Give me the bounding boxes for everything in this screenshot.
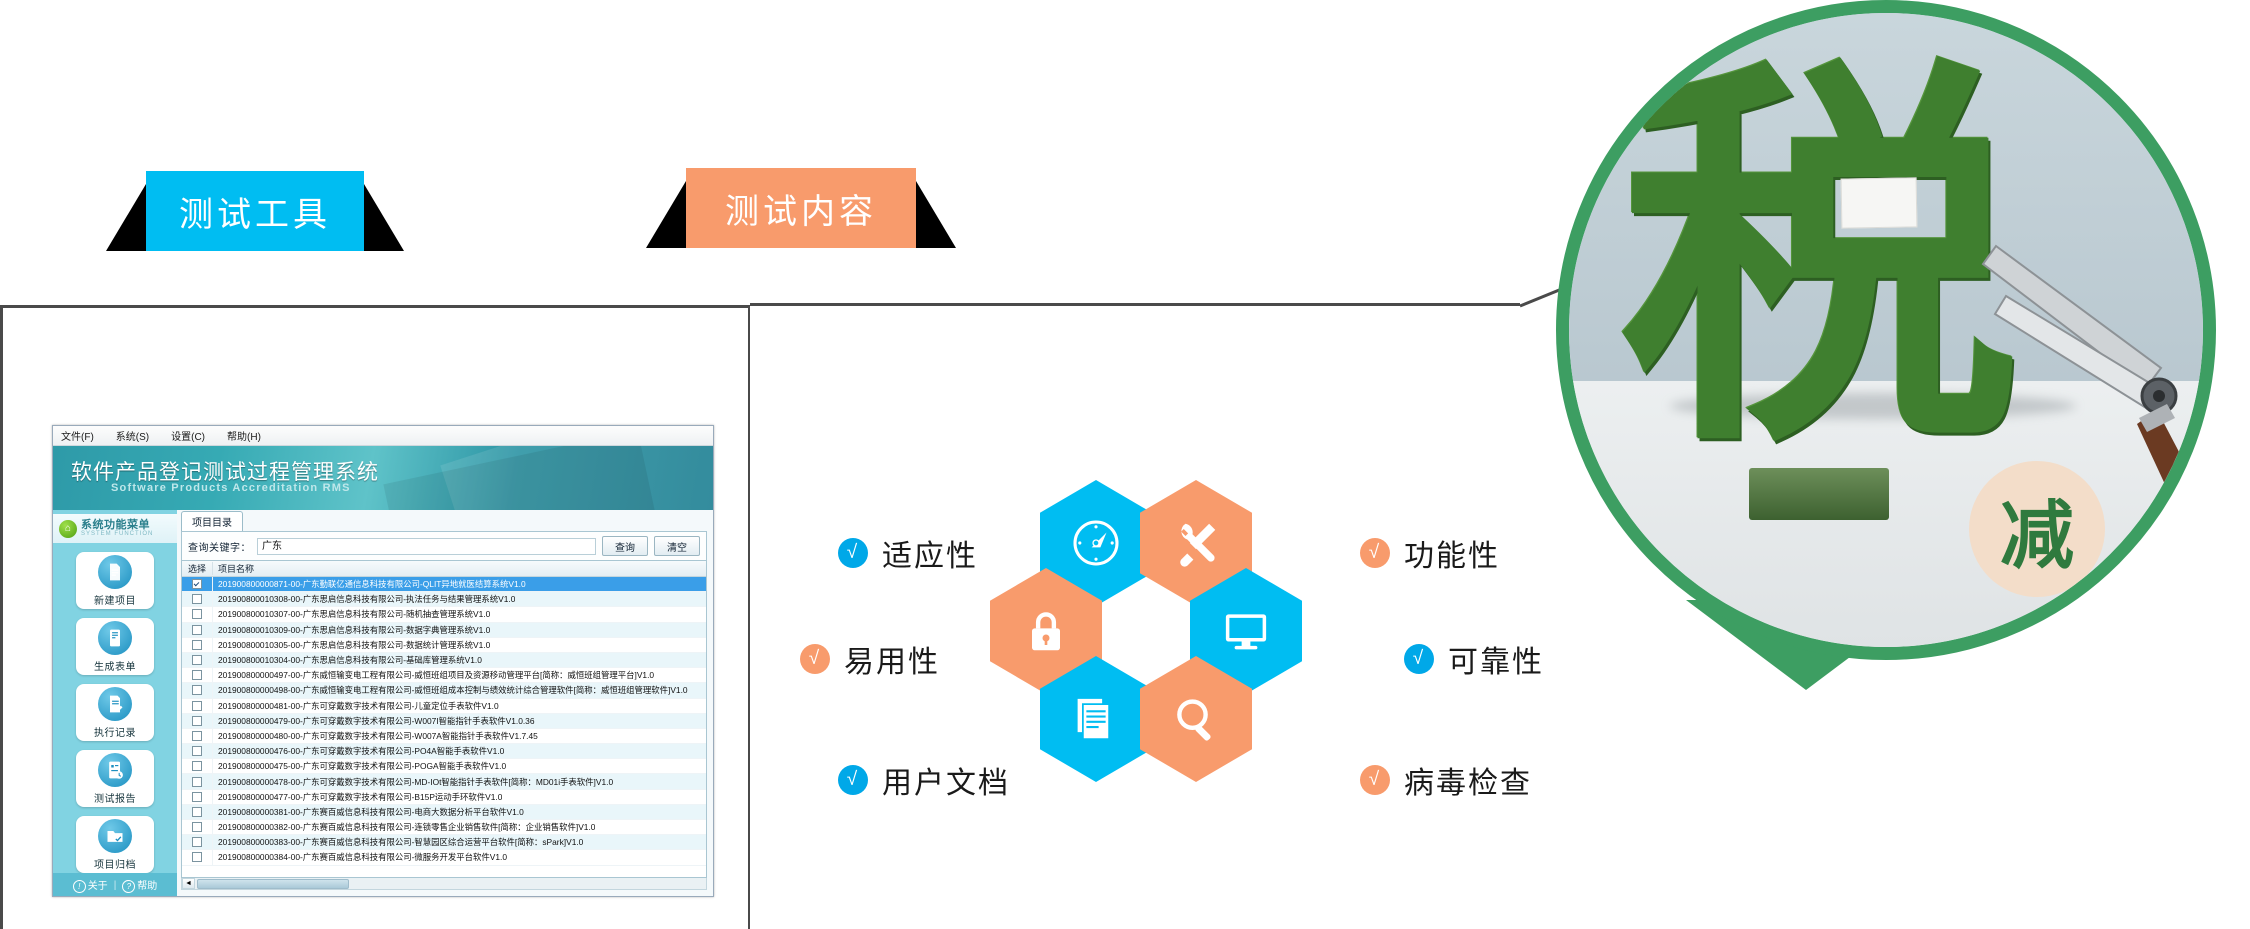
table-row[interactable]: 201900800000381-00-广东赛百威信息科技有限公司-电商大数据分析…	[182, 805, 706, 820]
row-checkbox[interactable]	[192, 822, 202, 832]
query-button[interactable]: 查询	[602, 536, 648, 556]
table-body: 201900800000871-00-广东勤联亿通信息科技有限公司-QLIT异地…	[182, 577, 706, 866]
row-select-cell[interactable]	[182, 653, 213, 667]
menu-item-help[interactable]: 帮助(H)	[227, 428, 261, 443]
topiary-plaque	[1841, 177, 1918, 228]
table-row[interactable]: 201900800000476-00-广东可穿戴数字技术有限公司-PO4A智能手…	[182, 744, 706, 759]
row-project-name: 201900800000383-00-广东赛百威信息科技有限公司-智慧园区综合运…	[213, 836, 583, 848]
footer-separator: |	[114, 880, 117, 891]
check-icon-reliability: √	[1404, 644, 1434, 674]
banner-tail-left-content	[646, 181, 686, 248]
label-user-document: √ 用户文档	[838, 758, 1010, 802]
table-row[interactable]: 201900800000382-00-广东赛百威信息科技有限公司-连锁零售企业销…	[182, 820, 706, 835]
generate-form-icon	[98, 621, 132, 655]
banner-tail-right-tools	[364, 184, 404, 251]
label-usability-text: 易用性	[844, 637, 940, 681]
row-project-name: 201900800000871-00-广东勤联亿通信息科技有限公司-QLIT异地…	[213, 578, 526, 590]
app-title-english: Software Products Accreditation RMS	[111, 482, 351, 494]
row-checkbox[interactable]	[192, 609, 202, 619]
row-project-name: 201900800000384-00-广东赛百威信息科技有限公司-微服务开发平台…	[213, 851, 507, 863]
row-checkbox[interactable]	[192, 731, 202, 741]
row-checkbox[interactable]	[192, 777, 202, 787]
table-row[interactable]: 201900800010304-00-广东思启信息科技有限公司-基础库管理系统V…	[182, 653, 706, 668]
row-project-name: 201900800000479-00-广东可穿戴数字技术有限公司-W007I智能…	[213, 715, 535, 727]
table-row[interactable]: 201900800000479-00-广东可穿戴数字技术有限公司-W007I智能…	[182, 714, 706, 729]
row-select-cell[interactable]	[182, 577, 213, 591]
tools-icon	[1168, 515, 1224, 571]
row-select-cell[interactable]	[182, 835, 213, 849]
sidebar-footer: !关于 | ?帮助	[53, 873, 177, 897]
check-icon-user-document: √	[838, 765, 868, 795]
menu-item-file[interactable]: 文件(F)	[61, 428, 94, 443]
about-button[interactable]: !关于	[73, 877, 108, 893]
row-project-name: 201900800000382-00-广东赛百威信息科技有限公司-连锁零售企业销…	[213, 821, 595, 833]
banner-test-content-label: 测试内容	[725, 184, 877, 233]
row-checkbox[interactable]	[192, 746, 202, 756]
check-icon-usability: √	[800, 644, 830, 674]
sidebar-item-test-report[interactable]: 测试报告	[76, 750, 154, 807]
row-project-name: 201900800000476-00-广东可穿戴数字技术有限公司-PO4A智能手…	[213, 745, 504, 757]
search-input[interactable]	[257, 538, 596, 555]
row-checkbox[interactable]	[192, 670, 202, 680]
row-checkbox[interactable]	[192, 761, 202, 771]
label-usability: √ 易用性	[800, 637, 940, 681]
table-row[interactable]: 201900800010305-00-广东思启信息科技有限公司-数据统计管理系统…	[182, 638, 706, 653]
row-select-cell[interactable]	[182, 623, 213, 637]
app-menubar: 文件(F) 系统(S) 设置(C) 帮助(H)	[53, 426, 713, 446]
scrollbar-thumb[interactable]	[197, 879, 349, 889]
info-icon: !	[73, 880, 86, 893]
help-button-label: 帮助	[137, 881, 157, 892]
frame-top-line-left	[0, 305, 748, 308]
row-select-cell[interactable]	[182, 699, 213, 713]
table-header-row: 选择 项目名称	[182, 561, 706, 577]
row-project-name: 201900800000497-00-广东威恒输变电工程有限公司-威恒班组项目及…	[213, 669, 654, 681]
row-select-cell[interactable]	[182, 638, 213, 652]
row-select-cell[interactable]	[182, 790, 213, 804]
row-project-name: 201900800000381-00-广东赛百威信息科技有限公司-电商大数据分析…	[213, 806, 524, 818]
label-reliability-text: 可靠性	[1448, 637, 1544, 681]
table-row[interactable]: 201900800010309-00-广东思启信息科技有限公司-数据字典管理系统…	[182, 623, 706, 638]
horizontal-scrollbar[interactable]: ◄	[181, 878, 707, 890]
tabstrip: 项目目录	[181, 514, 707, 531]
row-project-name: 201900800010308-00-广东思启信息科技有限公司-执法任务与结果管…	[213, 593, 515, 605]
check-icon-functionality: √	[1360, 538, 1390, 568]
row-select-cell[interactable]	[182, 759, 213, 773]
row-checkbox[interactable]	[192, 625, 202, 635]
search-label: 查询关键字：	[188, 539, 251, 554]
label-functionality-text: 功能性	[1404, 531, 1500, 575]
app-content-pane: 项目目录 查询关键字： 查询 清空 选择 项目名称 20190080000087…	[177, 510, 713, 897]
new-project-icon	[98, 555, 132, 589]
frame-divider-line	[748, 305, 750, 929]
row-project-name: 201900800000498-00-广东威恒输变电工程有限公司-威恒班组成本控…	[213, 684, 688, 696]
table-row[interactable]: 201900800010307-00-广东思启信息科技有限公司-随机抽查管理系统…	[182, 607, 706, 622]
sidebar-item-generate-form[interactable]: 生成表单	[76, 618, 154, 675]
table-row[interactable]: 201900800000871-00-广东勤联亿通信息科技有限公司-QLIT异地…	[182, 577, 706, 592]
question-icon: ?	[122, 880, 135, 893]
photo-circle: 税 减	[1556, 0, 2216, 660]
table-column-select: 选择	[182, 562, 213, 575]
row-select-cell[interactable]	[182, 729, 213, 743]
sidebar-header-label-cn: 系统功能菜单	[81, 520, 153, 531]
row-checkbox[interactable]	[192, 837, 202, 847]
lock-icon	[1018, 603, 1074, 659]
sidebar-item-project-archive[interactable]: 项目归档	[76, 816, 154, 873]
search-panel: 查询关键字： 查询 清空	[181, 531, 707, 561]
scroll-left-arrow[interactable]: ◄	[182, 878, 195, 889]
banner-tail-left-tools	[106, 184, 146, 251]
row-checkbox[interactable]	[192, 852, 202, 862]
project-table: 选择 项目名称 201900800000871-00-广东勤联亿通信息科技有限公…	[181, 561, 707, 878]
sidebar-header-label-en: SYSTEM FUNCTION	[81, 531, 153, 537]
label-reliability: √ 可靠性	[1404, 637, 1544, 681]
app-sidebar: ⌂ 系统功能菜单 SYSTEM FUNCTION 新建项目 生成表单	[53, 510, 177, 897]
test-report-icon	[98, 753, 132, 787]
row-checkbox[interactable]	[192, 792, 202, 802]
application-window-screenshot: 文件(F) 系统(S) 设置(C) 帮助(H) 软件产品登记测试过程管理系统 S…	[52, 425, 714, 897]
row-checkbox[interactable]	[192, 807, 202, 817]
tab-project-catalog[interactable]: 项目目录	[181, 511, 243, 531]
label-virus-check: √ 病毒检查	[1360, 758, 1532, 802]
row-project-name: 201900800010304-00-广东思启信息科技有限公司-基础库管理系统V…	[213, 654, 482, 666]
label-adaptability-text: 适应性	[882, 531, 978, 575]
table-row[interactable]: 201900800000480-00-广东可穿戴数字技术有限公司-W007A智能…	[182, 729, 706, 744]
sidebar-item-new-project-label: 新建项目	[94, 592, 136, 607]
row-select-cell[interactable]	[182, 850, 213, 864]
banner-test-content: 测试内容	[686, 168, 916, 248]
row-select-cell[interactable]	[182, 714, 213, 728]
row-checkbox[interactable]	[192, 594, 202, 604]
table-row[interactable]: 201900800000475-00-广东可穿戴数字技术有限公司-POGA智能手…	[182, 759, 706, 774]
table-row[interactable]: 201900800000497-00-广东威恒输变电工程有限公司-威恒班组项目及…	[182, 668, 706, 683]
project-archive-icon	[98, 819, 132, 853]
magnifier-icon	[1168, 691, 1224, 747]
table-row[interactable]: 201900800000383-00-广东赛百威信息科技有限公司-智慧园区综合运…	[182, 835, 706, 850]
row-checkbox[interactable]	[192, 701, 202, 711]
row-select-cell[interactable]	[182, 607, 213, 621]
row-project-name: 201900800010307-00-广东思启信息科技有限公司-随机抽查管理系统…	[213, 608, 490, 620]
row-project-name: 201900800000480-00-广东可穿戴数字技术有限公司-W007A智能…	[213, 730, 538, 742]
row-project-name: 201900800000478-00-广东可穿戴数字技术有限公司-MD-IOt智…	[213, 776, 613, 788]
check-icon-virus-check: √	[1360, 765, 1390, 795]
app-header-banner: 软件产品登记测试过程管理系统 Software Products Accredi…	[53, 446, 713, 510]
reduction-seal: 减	[1969, 461, 2105, 597]
sidebar-item-generate-form-label: 生成表单	[94, 658, 136, 673]
row-select-cell[interactable]	[182, 592, 213, 606]
table-row[interactable]: 201900800000498-00-广东威恒输变电工程有限公司-威恒班组成本控…	[182, 683, 706, 698]
table-row[interactable]: 201900800000477-00-广东可穿戴数字技术有限公司-B15P运动手…	[182, 790, 706, 805]
documents-icon	[1068, 691, 1124, 747]
menu-item-settings[interactable]: 设置(C)	[171, 428, 205, 443]
row-project-name: 201900800000475-00-广东可穿戴数字技术有限公司-POGA智能手…	[213, 760, 506, 772]
row-project-name: 201900800000477-00-广东可穿戴数字技术有限公司-B15P运动手…	[213, 791, 502, 803]
app-body: ⌂ 系统功能菜单 SYSTEM FUNCTION 新建项目 生成表单	[53, 510, 713, 897]
row-project-name: 201900800010305-00-广东思启信息科技有限公司-数据统计管理系统…	[213, 639, 490, 651]
row-select-cell[interactable]	[182, 668, 213, 682]
label-virus-check-text: 病毒检查	[1404, 758, 1532, 802]
menu-item-system[interactable]: 系统(S)	[116, 428, 149, 443]
sidebar-item-execution-record-label: 执行记录	[94, 724, 136, 739]
system-globe-icon: ⌂	[59, 520, 77, 538]
sidebar-item-new-project[interactable]: 新建项目	[76, 552, 154, 609]
banner-test-tools: 测试工具	[146, 171, 364, 251]
frame-top-line-right	[750, 303, 1520, 306]
table-row[interactable]: 201900800000478-00-广东可穿戴数字技术有限公司-MD-IOt智…	[182, 774, 706, 789]
sidebar-header: ⌂ 系统功能菜单 SYSTEM FUNCTION	[53, 514, 177, 543]
help-button[interactable]: ?帮助	[122, 877, 157, 893]
row-project-name: 201900800010309-00-广东思启信息科技有限公司-数据字典管理系统…	[213, 624, 490, 636]
monitor-icon	[1218, 603, 1274, 659]
table-row[interactable]: 201900800000384-00-广东赛百威信息科技有限公司-微服务开发平台…	[182, 850, 706, 865]
table-row[interactable]: 201900800000481-00-广东可穿戴数字技术有限公司-儿童定位手表软…	[182, 699, 706, 714]
label-adaptability: √ 适应性	[838, 531, 978, 575]
hexagon-cluster	[1040, 480, 1300, 790]
banner-test-tools-label: 测试工具	[179, 187, 331, 236]
table-column-project-name: 项目名称	[213, 562, 254, 575]
frame-left-line	[0, 305, 3, 929]
row-project-name: 201900800000481-00-广东可穿戴数字技术有限公司-儿童定位手表软…	[213, 700, 499, 712]
check-icon-adaptability: √	[838, 538, 868, 568]
sidebar-item-project-archive-label: 项目归档	[94, 856, 136, 871]
row-select-cell[interactable]	[182, 805, 213, 819]
row-select-cell[interactable]	[182, 744, 213, 758]
sidebar-item-test-report-label: 测试报告	[94, 790, 136, 805]
compass-icon	[1068, 515, 1124, 571]
about-button-label: 关于	[88, 881, 108, 892]
photo-callout: 税 减	[1556, 0, 2236, 690]
row-checkbox[interactable]	[192, 685, 202, 695]
row-select-cell[interactable]	[182, 683, 213, 697]
table-row[interactable]: 201900800010308-00-广东思启信息科技有限公司-执法任务与结果管…	[182, 592, 706, 607]
row-checkbox[interactable]	[192, 655, 202, 665]
banner-tail-right-content	[916, 181, 956, 248]
row-select-cell[interactable]	[182, 774, 213, 788]
label-functionality: √ 功能性	[1360, 531, 1500, 575]
row-checkbox[interactable]	[192, 579, 202, 589]
execution-record-icon	[98, 687, 132, 721]
sidebar-item-execution-record[interactable]: 执行记录	[76, 684, 154, 741]
label-user-document-text: 用户文档	[882, 758, 1010, 802]
row-checkbox[interactable]	[192, 716, 202, 726]
row-select-cell[interactable]	[182, 820, 213, 834]
clear-button[interactable]: 清空	[654, 536, 700, 556]
row-checkbox[interactable]	[192, 640, 202, 650]
